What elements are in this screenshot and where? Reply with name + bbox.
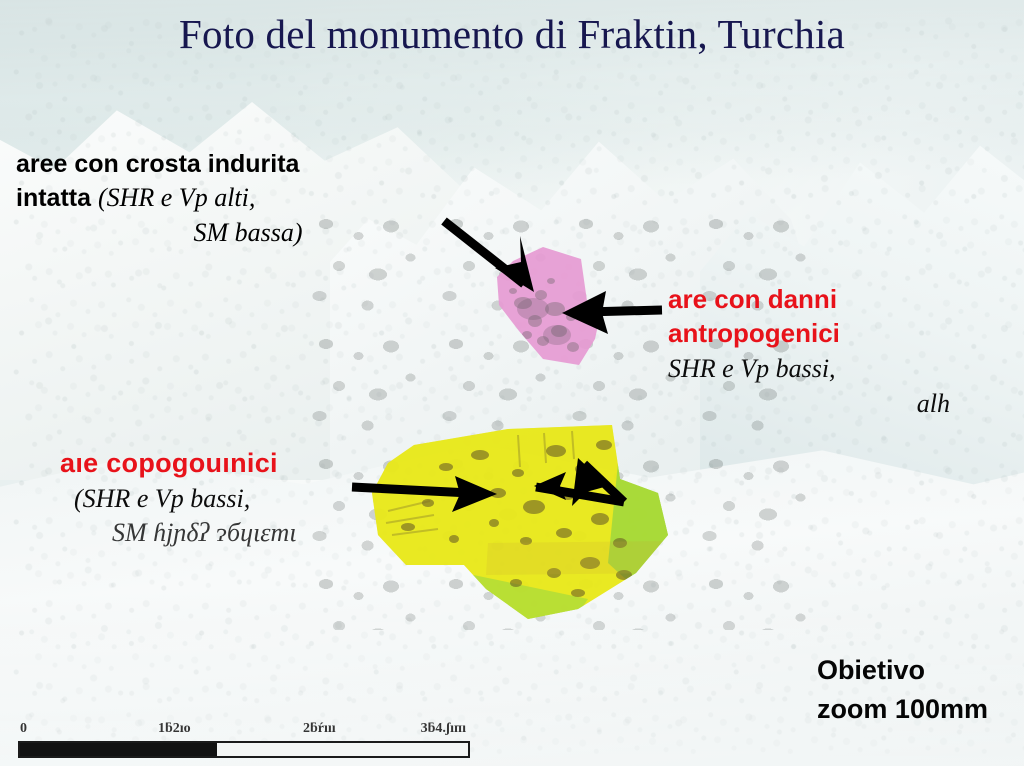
callout-anthropogenic-line2: antropogenici <box>668 317 1008 351</box>
callout-objective-lens: Obietivo zoom 100mm <box>817 651 988 728</box>
callout-anthropogenic-line4: alh <box>668 387 1008 421</box>
scale-bar-filled <box>20 743 217 756</box>
arrow-to-pink-from-anthropogenic-label <box>562 291 662 334</box>
callout-intact-crust-line2-italic: (SHR e Vp alti, <box>98 183 255 212</box>
callout-copogounici-line1: aıe copogouınici <box>60 446 390 482</box>
callout-copogounici-line2: (SHR e Vp bassi, <box>60 482 390 516</box>
scale-bar-track <box>18 741 470 758</box>
slide-title: Foto del monumento di Fraktin, Turchia <box>0 8 1024 60</box>
callout-intact-crust-line3: SM bassa) <box>16 216 446 251</box>
arrow-to-pink-from-crust-label <box>444 221 534 292</box>
callout-objective-line2: zoom 100mm <box>817 690 988 728</box>
arrow-to-yellow-upper-right <box>534 458 624 506</box>
callout-intact-crust-line1: aree con crosta indurita <box>16 150 299 178</box>
callout-anthropogenic-damage: are con danni antropogenici SHR e Vp bas… <box>668 283 1008 421</box>
scale-bar-empty <box>217 743 468 756</box>
callout-anthropogenic-line1: are con danni <box>668 283 1008 317</box>
scale-tick-3: 3ƃ4.ʃıпı <box>421 721 466 737</box>
scale-bar: 0 1ƃ2ıо 2ƃŕııı 3ƃ4.ʃıпı <box>18 721 470 758</box>
callout-intact-crust-line2-bold: intatta <box>16 184 91 212</box>
callout-copogounici-line3: SM ɦjɲδʔ ɂбɥιεтι <box>60 516 390 550</box>
callout-intact-crust: aree con crosta indurita intatta (SHR e … <box>16 148 446 250</box>
slide-canvas: Foto del monumento di Fraktin, Turchia a… <box>0 0 1024 766</box>
scale-bar-ticks: 0 1ƃ2ıо 2ƃŕııı 3ƃ4.ʃıпı <box>18 721 470 741</box>
callout-objective-line1: Obietivo <box>817 651 988 689</box>
scale-tick-1: 1ƃ2ıо <box>158 721 191 737</box>
scale-tick-2: 2ƃŕııı <box>303 721 336 737</box>
callout-anthropogenic-line3: SHR e Vp bassi, <box>668 352 1008 386</box>
scale-tick-0: 0 <box>20 721 27 737</box>
callout-copogounici: aıe copogouınici (SHR e Vp bassi, SM ɦjɲ… <box>60 446 390 550</box>
